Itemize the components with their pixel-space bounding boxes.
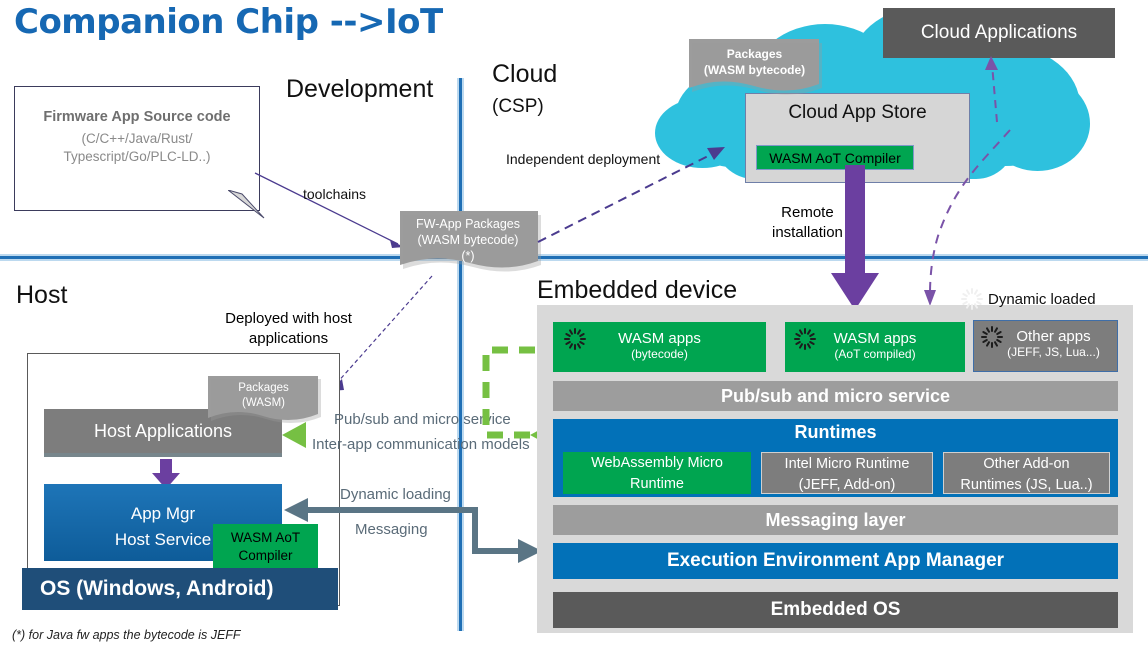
- horizontal-divider-right: [462, 256, 1148, 259]
- caption-development: Development: [286, 75, 433, 104]
- other-apps-spinner-icon: [980, 326, 1002, 348]
- cloud-wasm-aot-compiler-label: WASM AoT Compiler: [769, 150, 900, 166]
- caption-cloud: Cloud: [492, 60, 557, 89]
- host-os-bar: OS (Windows, Android): [22, 568, 338, 610]
- page-title: Companion Chip -->IoT: [14, 2, 443, 42]
- caption-embedded-device: Embedded device: [537, 276, 737, 305]
- firmware-source-line2: Typescript/Go/PLC-LD..): [15, 148, 259, 166]
- toolchains-label: toolchains: [303, 186, 366, 202]
- steel-connector-arrows: [280, 495, 545, 565]
- firmware-source-box: Firmware App Source code (C/C++/Java/Rus…: [14, 86, 260, 211]
- embedded-os-bar: Embedded OS: [553, 592, 1118, 628]
- runtime-other-addon[interactable]: Other Add-on Runtimes (JS, Lua..): [943, 452, 1110, 494]
- wasm-aot-spinner-icon: [793, 328, 815, 350]
- cloud-packages-callout: Packages (WASM bytecode): [688, 38, 821, 96]
- embedded-app-other[interactable]: Other apps (JEFF, JS, Lua...): [973, 320, 1118, 372]
- green-dashed-left-arrowhead: [282, 420, 312, 452]
- embedded-os-label: Embedded OS: [771, 599, 901, 621]
- footnote: (*) for Java fw apps the bytecode is JEF…: [12, 628, 241, 642]
- green-dashed-connector: [282, 330, 572, 450]
- cloud-packages-line1: Packages: [688, 46, 821, 62]
- embedded-app-wasm-aot[interactable]: WASM apps (AoT compiled): [785, 322, 965, 372]
- wasm-bytecode-spinner-icon: [563, 328, 585, 350]
- remote-dynamic-dashed-arrow: [908, 126, 1028, 310]
- embedded-messaging-layer-label: Messaging layer: [765, 510, 905, 531]
- embedded-app-manager-label: Execution Environment App Manager: [667, 550, 1004, 572]
- horizontal-divider-left: [0, 256, 462, 259]
- runtime-webassembly-micro[interactable]: WebAssembly Micro Runtime: [563, 452, 751, 494]
- firmware-source-title: Firmware App Source code: [15, 109, 259, 125]
- host-os-label: OS (Windows, Android): [40, 577, 274, 601]
- runtime-wamr-line2: Runtime: [563, 474, 751, 495]
- cloud-applications-label: Cloud Applications: [921, 22, 1077, 44]
- fw-packages-line1: FW-App Packages: [398, 216, 538, 232]
- runtime-intel-line1: Intel Micro Runtime: [762, 454, 932, 475]
- embedded-app-wasm-bytecode[interactable]: WASM apps (bytecode): [553, 322, 766, 372]
- cloud-packages-line2: (WASM bytecode): [688, 62, 821, 78]
- runtime-intel-micro[interactable]: Intel Micro Runtime (JEFF, Add-on): [761, 452, 933, 494]
- embedded-pubsub-bar: Pub/sub and micro service: [553, 381, 1118, 411]
- fw-app-packages-callout: FW-App Packages (WASM bytecode) (*): [398, 209, 538, 273]
- caption-cloud-sub: (CSP): [492, 96, 544, 118]
- embedded-messaging-layer-bar: Messaging layer: [553, 505, 1118, 535]
- runtime-wamr-line1: WebAssembly Micro: [563, 453, 751, 474]
- embedded-app-manager-bar: Execution Environment App Manager: [553, 543, 1118, 579]
- caption-host: Host: [16, 281, 67, 310]
- cloud-applications-dashed-arrow: [978, 50, 1018, 125]
- dynamic-loaded-label: Dynamic loaded: [988, 291, 1096, 308]
- firmware-source-line1: (C/C++/Java/Rust/: [15, 130, 259, 148]
- remote-installation-arrow: [826, 165, 886, 315]
- other-apps-line1: Other apps: [990, 328, 1117, 345]
- independent-deployment-label: Independent deployment: [506, 151, 660, 167]
- toolchains-arrow: [252, 170, 412, 255]
- other-apps-line2: (JEFF, JS, Lua...): [990, 345, 1117, 359]
- runtime-other-line2: Runtimes (JS, Lua..): [944, 475, 1109, 496]
- embedded-pubsub-label: Pub/sub and micro service: [721, 386, 950, 407]
- fw-packages-line2: (WASM bytecode): [398, 232, 538, 248]
- embedded-runtimes-title: Runtimes: [553, 419, 1118, 443]
- fw-packages-line3: (*): [398, 248, 538, 264]
- runtime-other-line1: Other Add-on: [944, 454, 1109, 475]
- dynamic-loaded-spinner-icon: [960, 288, 982, 310]
- runtime-intel-line2: (JEFF, Add-on): [762, 475, 932, 496]
